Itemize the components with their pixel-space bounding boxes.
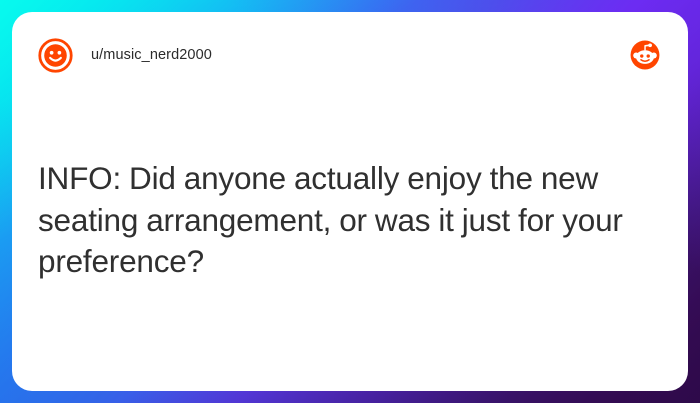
smiley-face-avatar-icon[interactable] (37, 37, 74, 74)
post-body-text: INFO: Did anyone actually enjoy the new … (38, 158, 662, 283)
reddit-post-card: u/music_nerd2000 (12, 12, 688, 391)
post-username[interactable]: u/music_nerd2000 (91, 47, 212, 63)
post-header: u/music_nerd2000 (12, 12, 688, 98)
reddit-snoo-logo-icon[interactable] (628, 38, 662, 72)
